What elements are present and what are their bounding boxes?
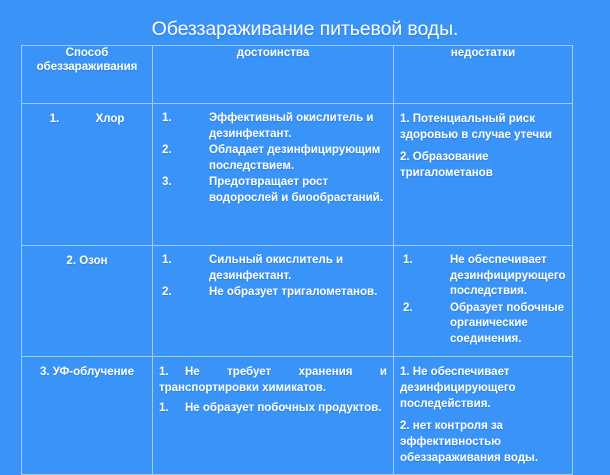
list-item: 1. Эффективный окислитель и дезинфектант… [159,111,387,142]
comparison-table-wrapper: Способ обеззараживания достоинства недос… [21,45,573,475]
list-item: 1. Не обеспечивает дезинфицирующего посл… [400,253,566,300]
comparison-table: Способ обеззараживания достоинства недос… [21,45,573,475]
table-row: 1.Хлор 1. Эффективный окислитель и дезин… [22,104,573,246]
table-row: 2. Озон 1. Сильный окислитель и дезинфек… [22,246,573,357]
table-header-row: Способ обеззараживания достоинства недос… [22,46,573,104]
disadvantages-list-ozone: 1. Не обеспечивает дезинфицирующего посл… [400,253,566,347]
column-header-advantages: достоинства [153,46,394,104]
method-cell-ozone: 2. Озон [22,246,153,357]
advantages-cell-ozone: 1. Сильный окислитель и дезинфектант. 2.… [153,246,394,357]
list-marker: 3. [162,175,172,191]
list-marker: 1. [403,253,413,269]
list-item-text: Не требует хранения и транспортировки хи… [159,366,387,394]
list-item: 2. Образование тригалометанов [400,149,566,181]
advantages-cell-chlorine: 1. Эффективный окислитель и дезинфектант… [153,104,394,246]
disadvantages-list-uv: 1. Не обеспечивает дезинфицирующего посл… [400,364,566,466]
advantages-list-ozone: 1. Сильный окислитель и дезинфектант. 2.… [159,253,387,301]
disadvantages-content-uv: 1. Не обеспечивает дезинфицирующего посл… [394,357,572,474]
table-head: Способ обеззараживания достоинства недос… [22,46,573,104]
disadvantages-content-chlorine: 1. Потенциальный риск здоровью в случае … [394,104,572,189]
method-label-uv: 3. УФ-облучение [22,357,152,380]
table-body: 1.Хлор 1. Эффективный окислитель и дезин… [22,104,573,475]
list-item-text: Обладает дезинфицирующим последствием. [209,144,380,172]
disadvantages-list-chlorine: 1. Потенциальный риск здоровью в случае … [400,111,566,181]
list-item-text: Предотвращает рост водорослей и биообрас… [209,176,383,204]
method-number: 1. [50,112,96,127]
list-item-text: Эффективный окислитель и дезинфектант. [209,112,373,140]
list-item-text: Не обеспечивает дезинфицирующего последс… [450,254,566,297]
disadvantages-content-ozone: 1. Не обеспечивает дезинфицирующего посл… [394,246,572,356]
disadvantages-cell-chlorine: 1. Потенциальный риск здоровью в случае … [394,104,573,246]
method-name: Озон [79,255,107,267]
list-item-text: Не образует побочных продуктов. [185,402,381,414]
list-marker: 2. [162,143,172,159]
advantages-content-ozone: 1. Сильный окислитель и дезинфектант. 2.… [153,246,393,310]
list-item-text: Не образует тригалометанов. [209,286,377,298]
column-header-method: Способ обеззараживания [22,46,153,104]
list-marker: 2. [403,301,413,317]
list-marker: 1. [162,111,172,127]
list-marker: 1. [159,364,185,380]
page-title: Обеззараживание питьевой воды. [0,18,610,41]
list-marker: 1. [159,400,185,416]
list-item: 1.Не образует побочных продуктов. [159,400,387,416]
method-label-chlorine: 1.Хлор [22,104,152,127]
list-item-text: Сильный окислитель и дезинфектант. [209,254,343,282]
advantages-list-chlorine: 1. Эффективный окислитель и дезинфектант… [159,111,387,206]
list-item: 1. Сильный окислитель и дезинфектант. [159,253,387,284]
list-item: 1.Не требует хранения и транспортировки … [159,364,387,396]
list-item: 2. Образует побочные органические соедин… [400,301,566,348]
method-name: Хлор [96,113,125,125]
list-item: 1. Потенциальный риск здоровью в случае … [400,111,566,143]
column-header-disadvantages-label: недостатки [394,46,572,60]
list-item: 2. Не образует тригалометанов. [159,285,387,301]
column-header-method-label: Способ обеззараживания [22,46,152,74]
method-number: 2. [66,255,76,267]
advantages-list-uv: 1.Не требует хранения и транспортировки … [159,364,387,416]
column-header-disadvantages: недостатки [394,46,573,104]
advantages-content-chlorine: 1. Эффективный окислитель и дезинфектант… [153,104,393,215]
method-name: УФ-облучение [53,366,134,378]
list-item: 1. Не обеспечивает дезинфицирующего посл… [400,364,566,412]
list-item: 2. нет контроля за эффективностью обезза… [400,418,566,466]
list-marker: 2. [162,285,172,301]
list-item: 3. Предотвращает рост водорослей и биооб… [159,175,387,206]
disadvantages-cell-ozone: 1. Не обеспечивает дезинфицирующего посл… [394,246,573,357]
method-number: 3. [40,366,50,378]
method-label-ozone: 2. Озон [22,246,152,269]
slide-root: Обеззараживание питьевой воды. Способ об… [0,0,610,457]
method-cell-chlorine: 1.Хлор [22,104,153,246]
list-marker: 1. [162,253,172,269]
list-item: 2. Обладает дезинфицирующим последствием… [159,143,387,174]
advantages-content-uv: 1.Не требует хранения и транспортировки … [153,357,393,424]
column-header-advantages-label: достоинства [153,46,393,60]
list-item-text: Образует побочные органические соединени… [450,302,564,345]
